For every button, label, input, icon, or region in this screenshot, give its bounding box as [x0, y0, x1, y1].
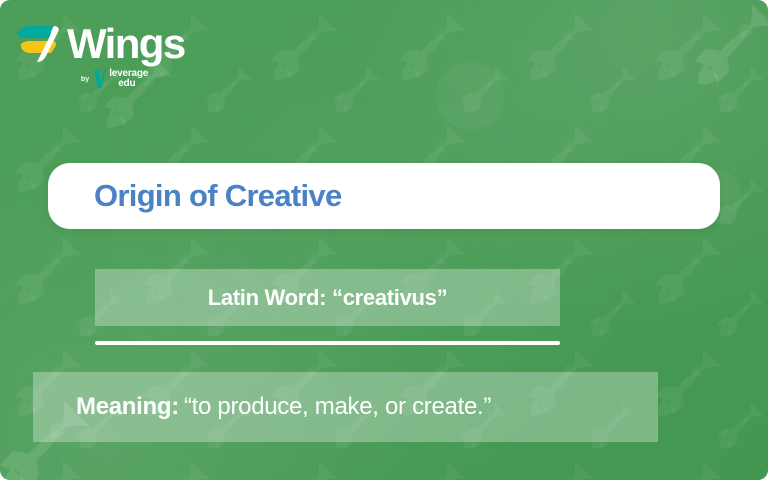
leverage-edu-line2: edu: [109, 79, 148, 89]
meaning-bar: Meaning:“to produce, make, or create.”: [33, 372, 658, 442]
leverage-edu-lockup: leverage edu: [93, 69, 148, 89]
leverage-edu-text: leverage edu: [109, 69, 148, 89]
meaning-label: Meaning:: [76, 393, 179, 420]
divider: [95, 341, 560, 345]
meaning-text: Meaning:“to produce, make, or create.”: [33, 393, 491, 421]
logo-row: Wings: [14, 22, 189, 66]
wings-swoosh-icon: [14, 22, 64, 66]
title-card: Origin of Creative: [48, 163, 720, 229]
latin-word-bar: Latin Word: “creativus”: [95, 269, 560, 326]
brand-by-label: by: [81, 76, 89, 83]
brand-parent-lockup: by leverage edu: [40, 69, 189, 89]
meaning-value: “to produce, make, or create.”: [184, 393, 491, 420]
leverage-v-icon: [93, 69, 107, 89]
page-title: Origin of Creative: [48, 178, 342, 214]
brand-wordmark: Wings: [67, 23, 185, 65]
latin-word-text: Latin Word: “creativus”: [208, 285, 448, 311]
infographic-canvas: Wings by leverage edu Origin of Creative…: [0, 0, 768, 480]
brand-logo[interactable]: Wings by leverage edu: [14, 22, 189, 89]
